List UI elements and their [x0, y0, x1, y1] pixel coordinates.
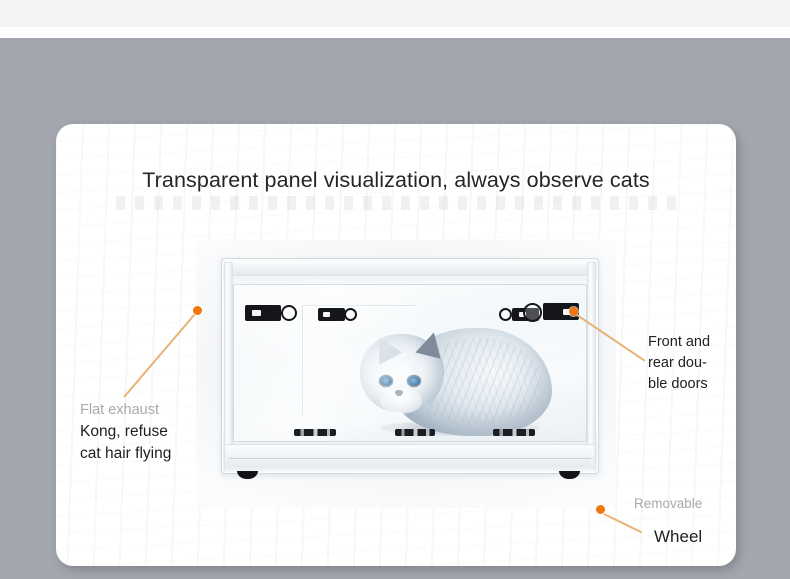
callout-label-double-doors: Front and rear dou- ble doors: [648, 332, 728, 395]
carrier-inner-divider-top: [303, 305, 415, 306]
latch-ring-pull-icon: [499, 308, 512, 321]
top-chrome-bar: [0, 0, 790, 27]
callout-text-line2: cat hair flying: [80, 443, 240, 465]
cat-left-eye: [380, 376, 392, 386]
page-title: Transparent panel visualization, always …: [56, 168, 736, 193]
carrier-latch-front-left: [245, 305, 297, 321]
callout-sublabel-flat-exhaust: Flat exhaust: [80, 400, 240, 421]
latch-ring-pull-icon: [344, 308, 357, 321]
carrier-fastener: [294, 429, 336, 436]
callout-text-line3: ble doors: [648, 374, 728, 395]
carrier-right-post: [587, 262, 596, 470]
top-white-strip: [0, 27, 790, 38]
cat-subject: [342, 320, 552, 440]
carrier-latch-front-mid: [318, 308, 358, 321]
carrier-wheel-right: [559, 471, 580, 479]
carrier-wheel-left: [237, 471, 258, 479]
carrier-fastener: [493, 429, 535, 436]
callout-text-line1: Kong, refuse: [80, 421, 240, 443]
cat-right-eye: [408, 376, 420, 386]
callout-dot-wheel: [596, 505, 605, 514]
callout-text-wheel: Wheel: [654, 525, 736, 549]
cat-carrier-illustration: [221, 258, 599, 488]
callout-text-line1: Front and: [648, 332, 728, 353]
callout-sublabel-removable: Removable: [634, 494, 736, 514]
headline-watermark: [116, 196, 681, 210]
latch-ring-pull-icon: [281, 305, 297, 321]
callout-leader-line-exhaust: [123, 310, 198, 398]
callout-text-line2: rear dou-: [648, 353, 728, 374]
product-photo: [196, 240, 616, 508]
cat-head: [360, 334, 444, 412]
cat-left-ear: [368, 331, 402, 364]
carrier-fastener: [395, 429, 435, 436]
latch-notch: [252, 310, 261, 316]
callout-dot-exhaust: [193, 306, 202, 315]
latch-notch: [323, 312, 330, 317]
carrier-top-rail: [225, 261, 595, 276]
carrier-base-seam: [229, 458, 591, 459]
callout-label-removable-wheel: Removable Wheel: [630, 494, 736, 549]
callout-dot-doors: [569, 307, 578, 316]
callout-label-flat-exhaust: Flat exhaust Kong, refuse cat hair flyin…: [80, 400, 240, 465]
latch-ring-pull-icon: [523, 303, 542, 322]
latch-body: [245, 305, 281, 321]
carrier-inner-divider: [302, 305, 303, 415]
product-feature-card: Transparent panel visualization, always …: [56, 124, 736, 566]
